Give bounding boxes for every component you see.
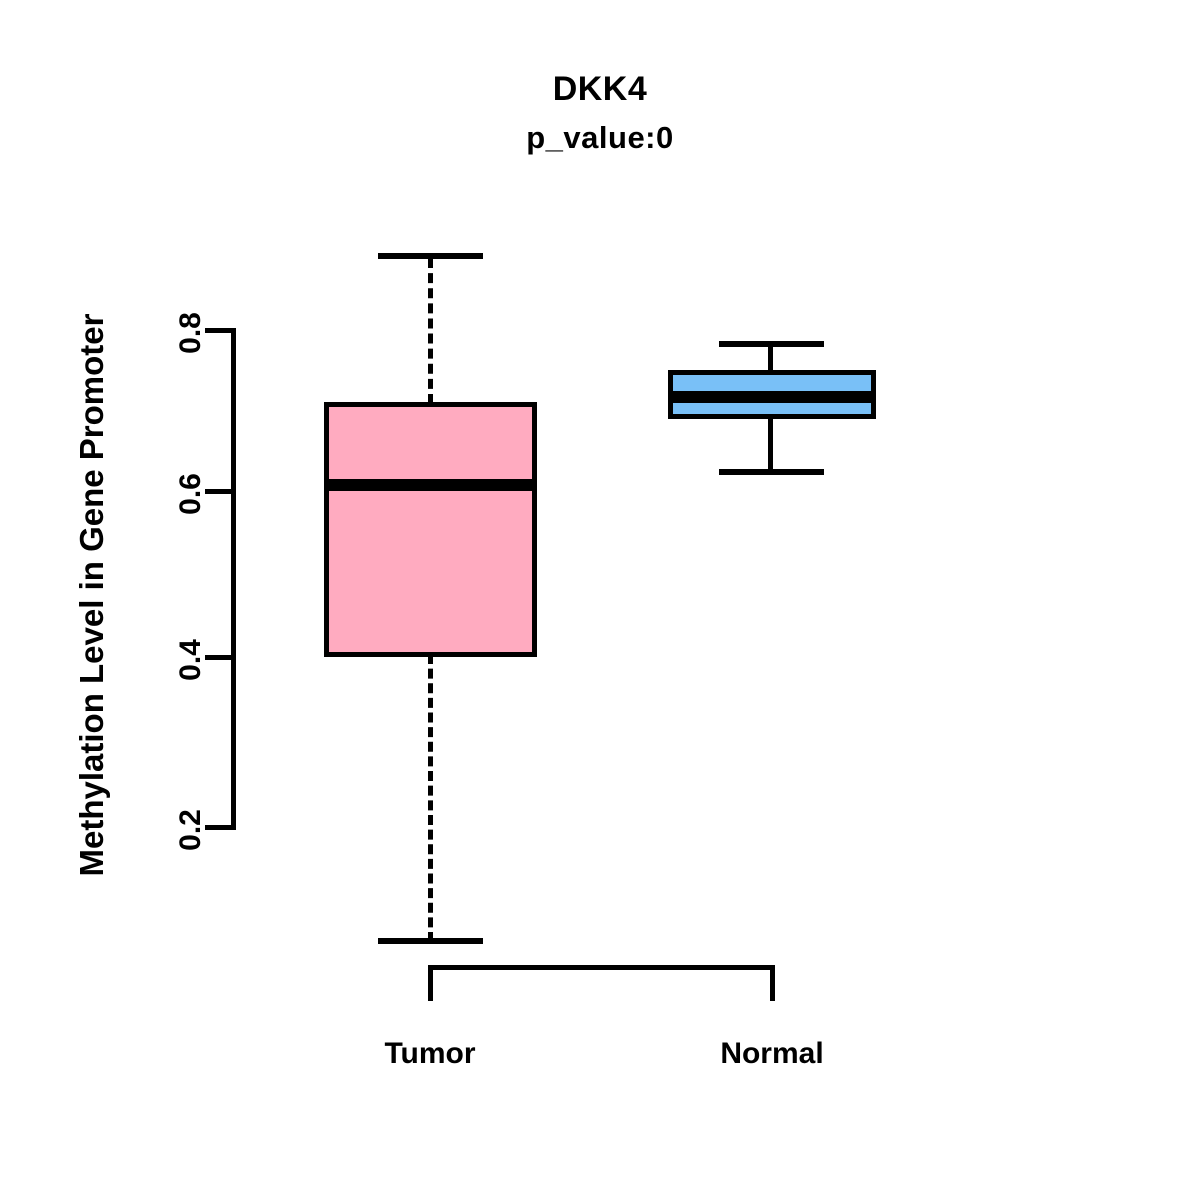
normal-upper-whisker	[768, 344, 773, 372]
normal-lower-whisker	[768, 416, 773, 472]
y-axis-spine	[231, 328, 236, 830]
tumor-box	[324, 402, 537, 657]
tumor-median-line	[324, 479, 537, 491]
y-axis-tick-0.6	[205, 489, 236, 494]
tumor-upper-whisker	[428, 258, 433, 404]
y-axis-title: Methylation Level in Gene Promoter	[73, 175, 111, 1015]
page-title: DKK4	[0, 70, 1200, 109]
chart-subtitle-pvalue: p_value:0	[0, 120, 1200, 156]
x-axis-end-tick-left	[428, 965, 433, 1001]
boxplot-figure: DKK4 p_value:0 Methylation Level in Gene…	[0, 0, 1200, 1200]
normal-lower-whisker-cap	[719, 469, 824, 475]
y-tick-label-0.6: 0.6	[174, 434, 208, 554]
y-axis-tick-0.8	[205, 328, 236, 333]
tumor-upper-whisker-cap	[378, 253, 483, 259]
y-tick-label-0.8: 0.8	[174, 273, 208, 393]
y-axis-tick-0.4	[205, 655, 236, 660]
y-tick-label-0.4: 0.4	[174, 600, 208, 720]
normal-median-line	[668, 391, 876, 403]
x-axis-end-tick-right	[770, 965, 775, 1001]
tumor-lower-whisker-cap	[378, 938, 483, 944]
x-axis-spine	[428, 965, 775, 970]
tumor-lower-whisker	[428, 654, 433, 942]
y-axis-tick-0.2	[205, 825, 236, 830]
y-tick-label-0.2: 0.2	[174, 770, 208, 890]
normal-upper-whisker-cap	[719, 341, 824, 347]
x-tick-label-normal: Normal	[672, 1037, 872, 1071]
x-tick-label-tumor: Tumor	[330, 1037, 530, 1071]
